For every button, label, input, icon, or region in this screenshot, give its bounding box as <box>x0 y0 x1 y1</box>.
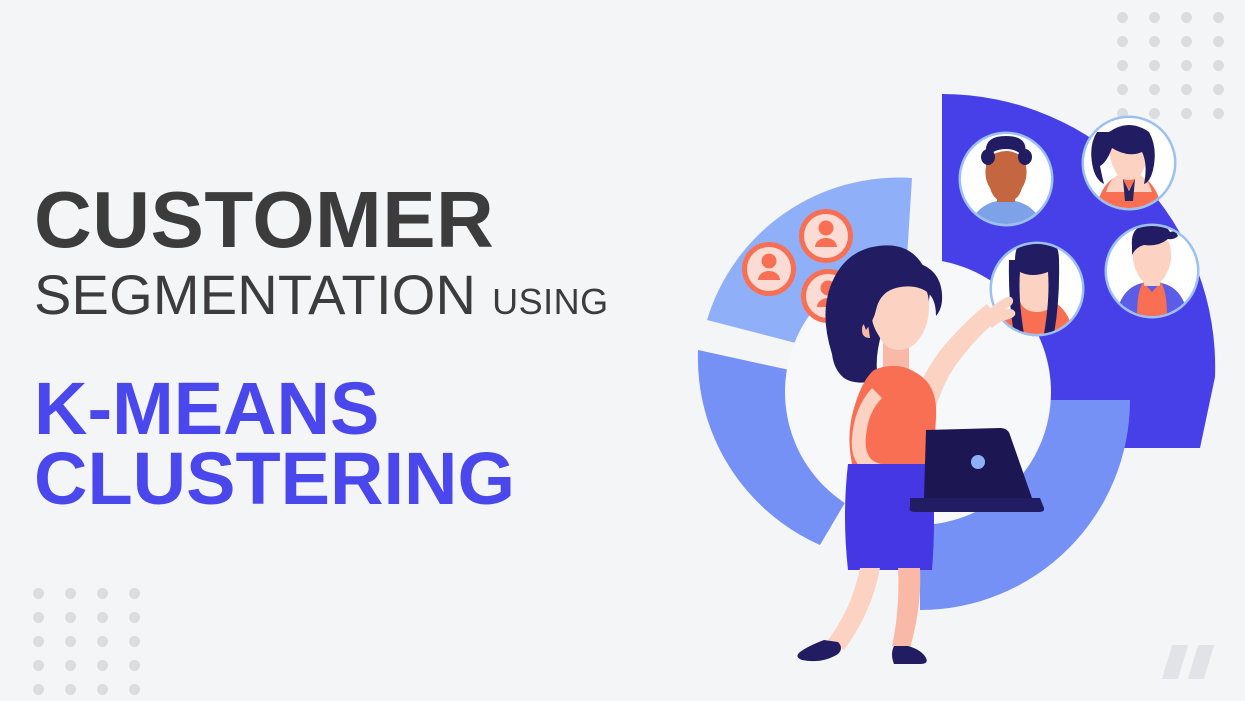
dot <box>65 636 76 647</box>
dot <box>33 660 44 671</box>
dot <box>33 612 44 623</box>
dot <box>129 636 140 647</box>
title-block: CUSTOMER SEGMENTATION USING K-MEANS CLUS… <box>34 182 694 513</box>
shoe-front <box>892 646 927 664</box>
title-line-segmentation-row: SEGMENTATION USING <box>34 267 694 323</box>
dot <box>1117 12 1128 23</box>
avatar <box>1107 224 1197 316</box>
title-line-using: USING <box>492 284 609 320</box>
dot <box>97 684 108 695</box>
user-icon <box>742 242 796 296</box>
illustration-customer-segmentation <box>660 40 1245 680</box>
dot <box>65 684 76 695</box>
dot <box>129 612 140 623</box>
dot <box>97 636 108 647</box>
dot <box>33 588 44 599</box>
skirt <box>845 464 934 570</box>
dot <box>33 684 44 695</box>
user-icon <box>799 209 853 263</box>
dot <box>65 588 76 599</box>
dot <box>129 684 140 695</box>
dot <box>1181 12 1192 23</box>
dot <box>1213 12 1224 23</box>
dot <box>97 660 108 671</box>
dot <box>129 660 140 671</box>
dot <box>129 588 140 599</box>
shoe-back <box>797 640 841 661</box>
dot <box>1149 12 1160 23</box>
leg-front <box>892 568 920 648</box>
dot-grid-bottom-left <box>33 588 161 701</box>
dot <box>97 588 108 599</box>
dot <box>65 660 76 671</box>
title-line-kmeans: K-MEANS <box>34 375 694 443</box>
title-line-customer: CUSTOMER <box>34 182 694 259</box>
dot <box>65 612 76 623</box>
dot <box>33 636 44 647</box>
dot <box>97 612 108 623</box>
title-line-segmentation: SEGMENTATION <box>34 267 476 323</box>
avatar <box>1084 118 1174 208</box>
leg-back <box>828 568 880 650</box>
poster-canvas: CUSTOMER SEGMENTATION USING K-MEANS CLUS… <box>0 0 1245 701</box>
title-line-clustering: CLUSTERING <box>34 445 694 513</box>
